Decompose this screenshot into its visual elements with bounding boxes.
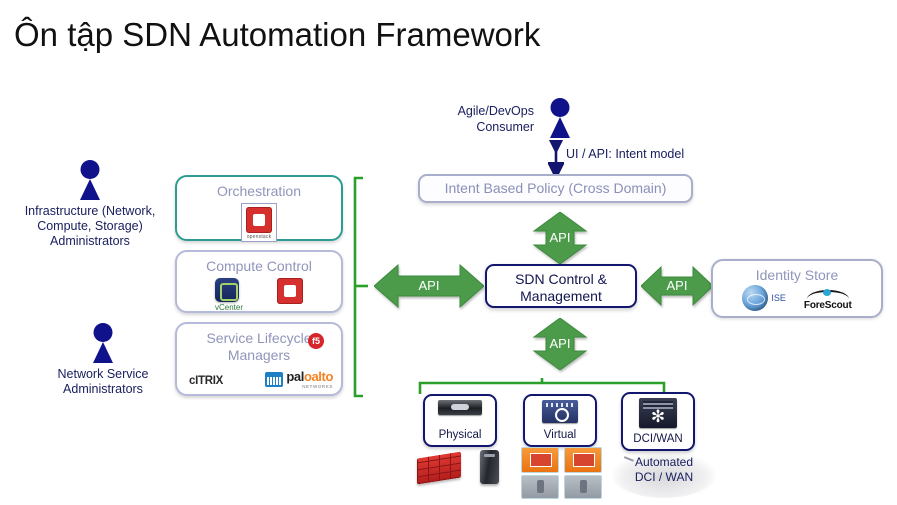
device-label-dci-wan: DCI/WAN bbox=[623, 433, 693, 445]
panel-service-lifecycle-managers[interactable]: Service Lifecycle Managers f5 cITRIX pal… bbox=[175, 322, 343, 396]
actor-label: Agile/DevOps Consumer bbox=[440, 103, 534, 135]
forescout-caption: ForeScout bbox=[804, 300, 852, 311]
actor-infrastructure-admins: Infrastructure (Network, Compute, Storag… bbox=[10, 160, 170, 249]
api-arrow-left: API bbox=[374, 263, 484, 309]
paloalto-icon bbox=[265, 372, 283, 387]
device-box-dci-wan[interactable]: DCI/WAN bbox=[621, 392, 695, 451]
paloalto-subtext: NETWORKS bbox=[286, 384, 333, 389]
actor-agile-devops-consumer bbox=[536, 98, 584, 138]
api-arrow-bottom: API bbox=[530, 318, 590, 370]
person-icon bbox=[537, 98, 583, 138]
vcenter-caption: vCenter bbox=[215, 303, 243, 312]
panel-title-orchestration: Orchestration bbox=[177, 177, 341, 200]
device-box-physical[interactable]: Physical bbox=[423, 394, 497, 447]
panel-title-compute-control: Compute Control bbox=[177, 252, 341, 275]
api-arrow-top: API bbox=[530, 212, 590, 264]
actor-label: Infrastructure (Network, Compute, Storag… bbox=[10, 204, 170, 249]
slide-canvas: Ôn tập SDN Automation Framework Infrastr… bbox=[0, 0, 897, 505]
citrix-logo: cITRIX bbox=[189, 375, 223, 387]
actor-network-service-admins: Network Service Administrators bbox=[28, 323, 178, 397]
panel-title-identity-store: Identity Store bbox=[713, 261, 881, 284]
intent-based-policy-label: Intent Based Policy (Cross Domain) bbox=[420, 176, 691, 201]
person-icon bbox=[67, 160, 113, 200]
paloalto-logo: paloalto NETWORKS bbox=[265, 369, 333, 389]
vm-stack-icon-1 bbox=[521, 447, 559, 499]
forescout-logo: ForeScout bbox=[804, 286, 852, 311]
openstack-logo bbox=[277, 278, 303, 304]
api-arrow-left-label: API bbox=[374, 278, 484, 293]
vcenter-logo: vCenter bbox=[215, 278, 243, 312]
panel-compute-control[interactable]: Compute Control vCenter bbox=[175, 250, 343, 313]
openstack-logo: openstack bbox=[241, 203, 277, 242]
openstack-caption: openstack bbox=[246, 234, 272, 240]
panel-identity-store[interactable]: Identity Store ISE ForeScout bbox=[711, 259, 883, 318]
vm-stack-icon-2 bbox=[564, 447, 602, 499]
person-icon bbox=[80, 323, 126, 363]
intent-based-policy-box[interactable]: Intent Based Policy (Cross Domain) bbox=[418, 174, 693, 203]
f5-logo: f5 bbox=[308, 333, 324, 349]
switch-icon bbox=[438, 400, 482, 415]
sdn-control-management-label: SDN Control & Management bbox=[487, 266, 635, 305]
paloalto-wordmark: paloalto bbox=[286, 369, 333, 384]
page-title: Ôn tập SDN Automation Framework bbox=[14, 16, 540, 54]
device-box-virtual[interactable]: Virtual bbox=[523, 394, 597, 447]
router-rack-icon bbox=[639, 398, 677, 428]
server-tower-icon bbox=[480, 450, 499, 484]
api-arrow-bottom-label: API bbox=[530, 336, 590, 351]
automated-dci-wan-label: Automated DCI / WAN bbox=[618, 455, 710, 485]
device-label-physical: Physical bbox=[425, 429, 495, 441]
firewall-icon bbox=[417, 452, 461, 485]
virtual-switch-icon bbox=[542, 400, 578, 423]
api-arrow-right: API bbox=[641, 265, 713, 307]
ise-caption: ISE bbox=[771, 293, 786, 303]
api-arrow-right-label: API bbox=[641, 278, 713, 293]
left-bracket-connector bbox=[352, 176, 374, 398]
cisco-ise-logo: ISE bbox=[742, 285, 786, 311]
panel-orchestration[interactable]: Orchestration openstack bbox=[175, 175, 343, 241]
device-label-virtual: Virtual bbox=[525, 429, 595, 441]
actor-label: Network Service Administrators bbox=[28, 367, 178, 397]
sdn-control-management-box[interactable]: SDN Control & Management bbox=[485, 264, 637, 308]
api-arrow-top-label: API bbox=[530, 230, 590, 245]
ui-api-label: UI / API: Intent model bbox=[566, 147, 684, 161]
